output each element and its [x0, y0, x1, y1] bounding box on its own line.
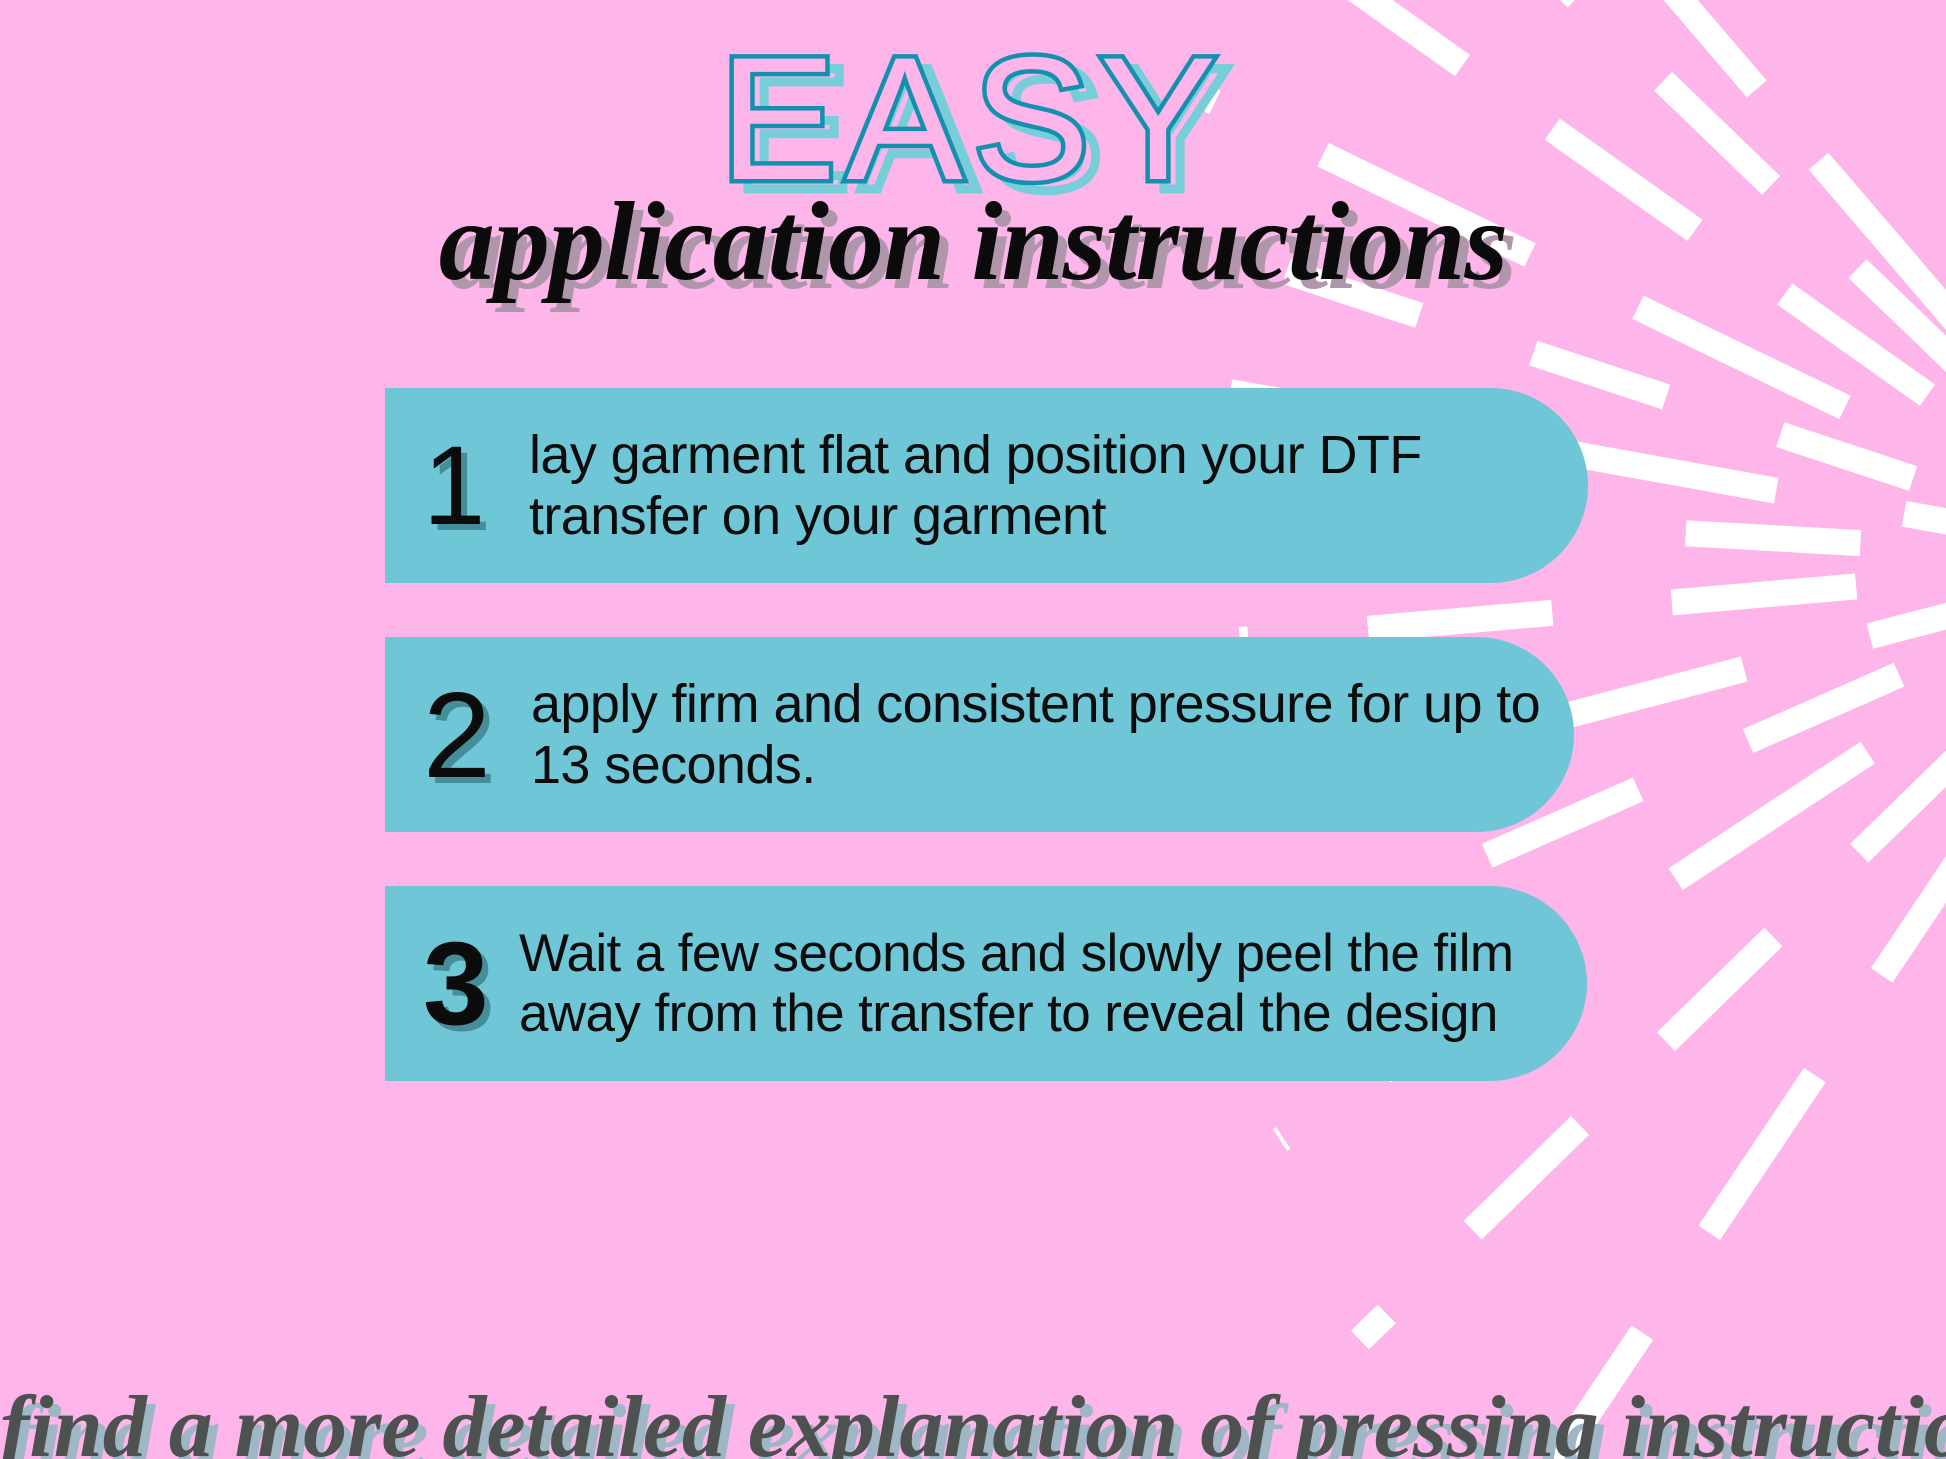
step-item-1: 1 lay garment flat and position your DTF…: [385, 388, 1588, 583]
step-number-1: 1: [423, 430, 515, 542]
step-text-3: Wait a few seconds and slowly peel the f…: [519, 924, 1587, 1043]
footer-note-text: find a more detailed explanation of pres…: [0, 1135, 1946, 1459]
step-text-2: apply firm and consistent pressure for u…: [531, 674, 1574, 795]
footer-note: find a more detailed explanation of pres…: [0, 1135, 1946, 1395]
step-number-3: 3: [423, 925, 509, 1043]
poster-canvas: EASY EASY EASY application instructions …: [0, 0, 1946, 1459]
step-text-1: lay garment flat and position your DTF t…: [529, 425, 1588, 546]
page-title: EASY EASY EASY: [0, 8, 1946, 188]
page-subtitle: application instructions application ins…: [0, 178, 1946, 313]
step-item-3: 3 Wait a few seconds and slowly peel the…: [385, 886, 1587, 1081]
step-item-2: 2 apply firm and consistent pressure for…: [385, 637, 1574, 832]
footer-line-1: find a more detailed explanation of pres…: [0, 1369, 1946, 1459]
step-number-2: 2: [423, 674, 515, 796]
page-subtitle-text: application instructions: [0, 178, 1946, 307]
